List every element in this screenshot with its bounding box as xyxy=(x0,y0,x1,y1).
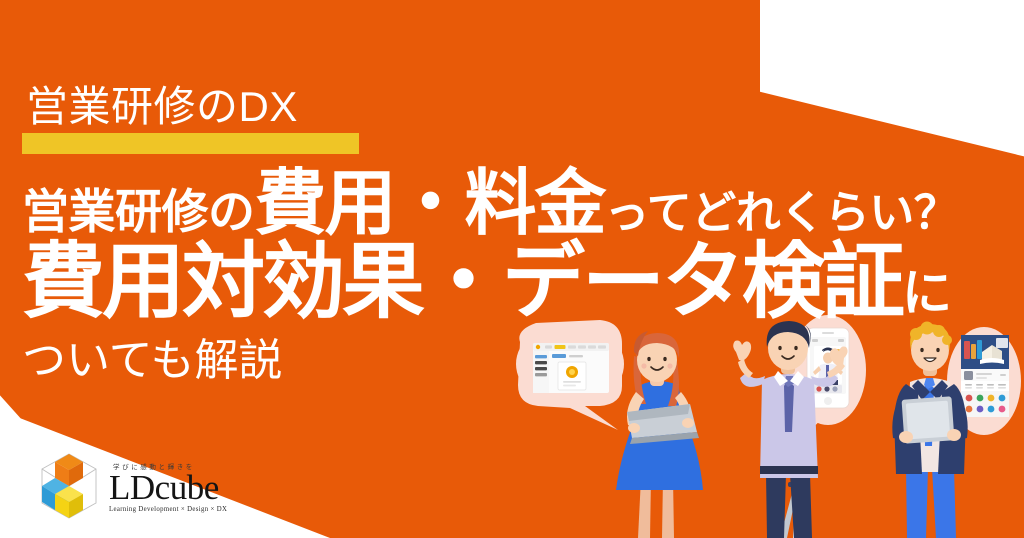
banner-canvas: 営業研修のDX 営業研修の費用・料金ってどれくらい？ 費用対効果・データ検証に … xyxy=(0,0,1024,538)
ldcube-logo-text: 学びに感動と輝きを LDcube Learning Development × … xyxy=(109,459,227,513)
character-woman-with-laptop xyxy=(516,320,703,538)
logo-wordmark: LDcube xyxy=(109,471,227,505)
ldcube-cube-icon xyxy=(38,452,100,520)
ldcube-logo[interactable]: 学びに感動と輝きを LDcube Learning Development × … xyxy=(38,452,227,520)
logo-subtitle: Learning Development × Design × DX xyxy=(109,506,227,513)
speech-bubble-browser xyxy=(516,320,624,430)
character-man-with-tripod xyxy=(733,315,866,538)
character-man-with-tablet xyxy=(892,322,1021,538)
